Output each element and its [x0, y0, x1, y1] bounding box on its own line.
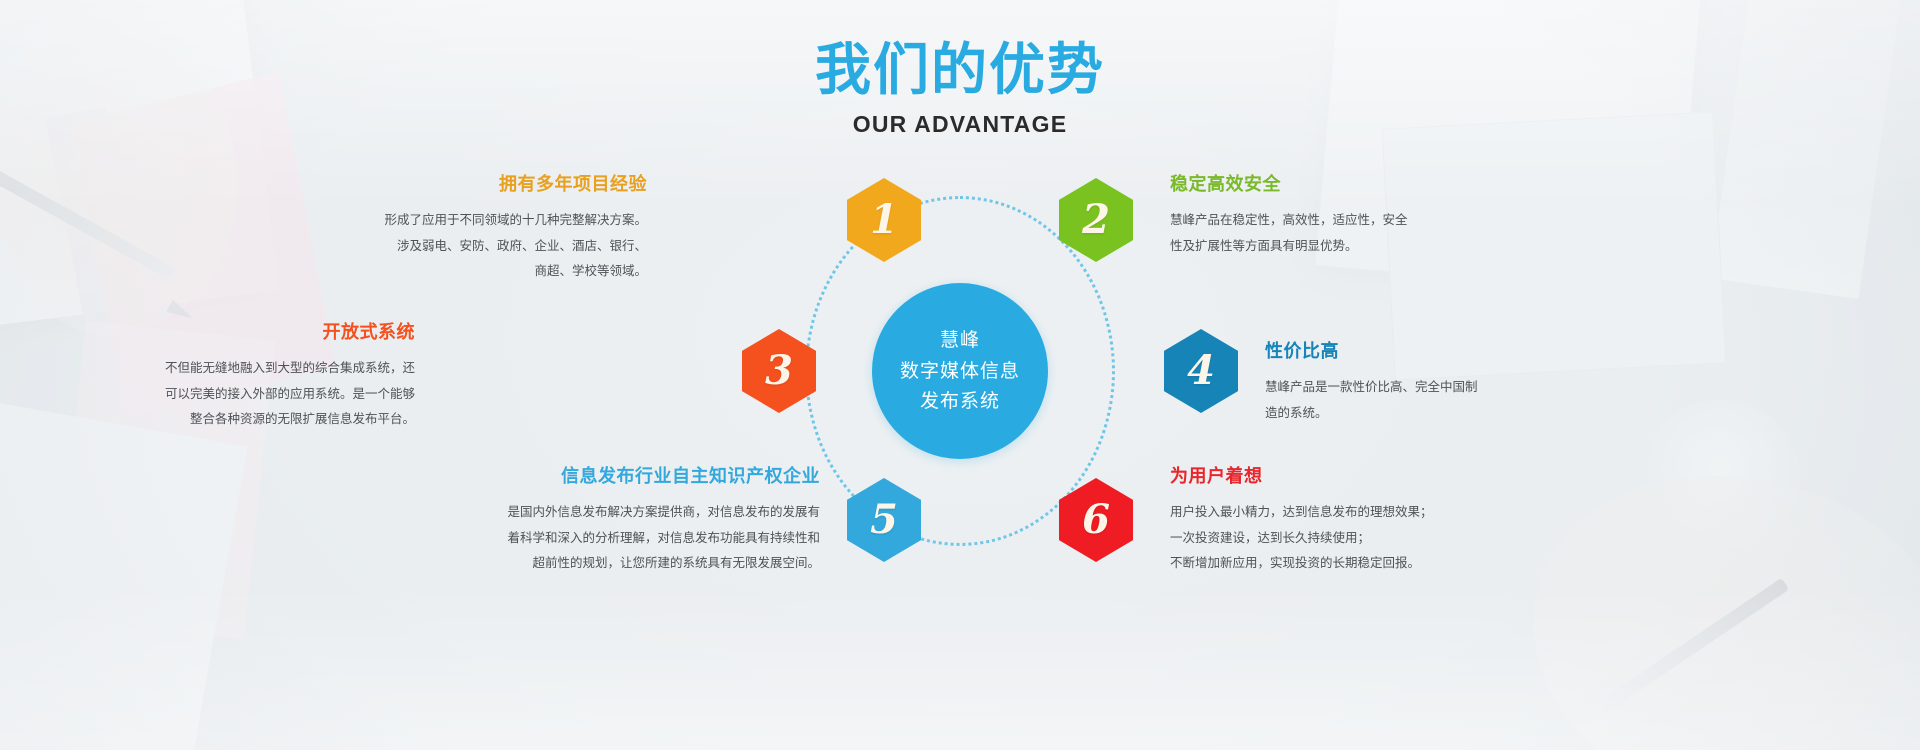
advantage-item-4: 性价比高 慧峰产品是一款性价比高、完全中国制 造的系统。 [1265, 337, 1555, 425]
advantage-item-2: 稳定高效安全 慧峰产品在稳定性，高效性，适应性，安全 性及扩展性等方面具有明显优… [1170, 170, 1460, 258]
hexagon-number-4: 4 [1187, 351, 1215, 391]
hexagon-number-5: 5 [870, 500, 898, 540]
advantage-title-5: 信息发布行业自主知识产权企业 [480, 462, 820, 488]
page-title-en: OUR ADVANTAGE [0, 111, 1920, 138]
advantage-title-4: 性价比高 [1265, 337, 1555, 363]
advantage-body-6: 用户投入最小精力，达到信息发布的理想效果； 一次投资建设，达到长久持续使用； 不… [1170, 499, 1460, 576]
advantage-item-1: 拥有多年项目经验 形成了应用于不同领域的十几种完整解决方案。 涉及弱电、安防、政… [357, 170, 647, 284]
advantage-body-4: 慧峰产品是一款性价比高、完全中国制 造的系统。 [1265, 374, 1555, 425]
page-title-block: 我们的优势 OUR ADVANTAGE [0, 42, 1920, 138]
center-circle-logo: 慧峰 数字媒体信息 发布系统 [872, 283, 1048, 459]
center-line-3: 发布系统 [920, 386, 1000, 417]
advantage-item-3: 开放式系统 不但能无缝地融入到大型的综合集成系统，还 可以完美的接入外部的应用系… [125, 318, 415, 432]
advantage-body-3: 不但能无缝地融入到大型的综合集成系统，还 可以完美的接入外部的应用系统。是一个能… [125, 355, 415, 432]
advantage-item-6: 为用户着想 用户投入最小精力，达到信息发布的理想效果； 一次投资建设，达到长久持… [1170, 462, 1460, 576]
hexagon-badge-4[interactable]: 4 [1164, 329, 1238, 413]
advantage-item-5: 信息发布行业自主知识产权企业 是国内外信息发布解决方案提供商，对信息发布的发展有… [480, 462, 820, 576]
advantage-title-3: 开放式系统 [125, 318, 415, 344]
advantage-body-2: 慧峰产品在稳定性，高效性，适应性，安全 性及扩展性等方面具有明显优势。 [1170, 207, 1460, 258]
center-line-2: 数字媒体信息 [900, 356, 1020, 387]
hexagon-number-2: 2 [1082, 200, 1110, 240]
advantage-title-6: 为用户着想 [1170, 462, 1460, 488]
advantage-title-1: 拥有多年项目经验 [357, 170, 647, 196]
advantage-body-5: 是国内外信息发布解决方案提供商，对信息发布的发展有 着科学和深入的分析理解，对信… [480, 499, 820, 576]
advantage-title-2: 稳定高效安全 [1170, 170, 1460, 196]
hexagon-badge-3[interactable]: 3 [742, 329, 816, 413]
advantage-infographic: 我们的优势 OUR ADVANTAGE 慧峰 数字媒体信息 发布系统 1 2 3… [0, 0, 1920, 750]
hexagon-number-3: 3 [765, 351, 793, 391]
hexagon-number-1: 1 [870, 200, 898, 240]
advantage-body-1: 形成了应用于不同领域的十几种完整解决方案。 涉及弱电、安防、政府、企业、酒店、银… [357, 207, 647, 284]
hexagon-number-6: 6 [1082, 500, 1110, 540]
center-line-1: 慧峰 [940, 325, 980, 356]
page-title-cn: 我们的优势 [0, 42, 1920, 101]
